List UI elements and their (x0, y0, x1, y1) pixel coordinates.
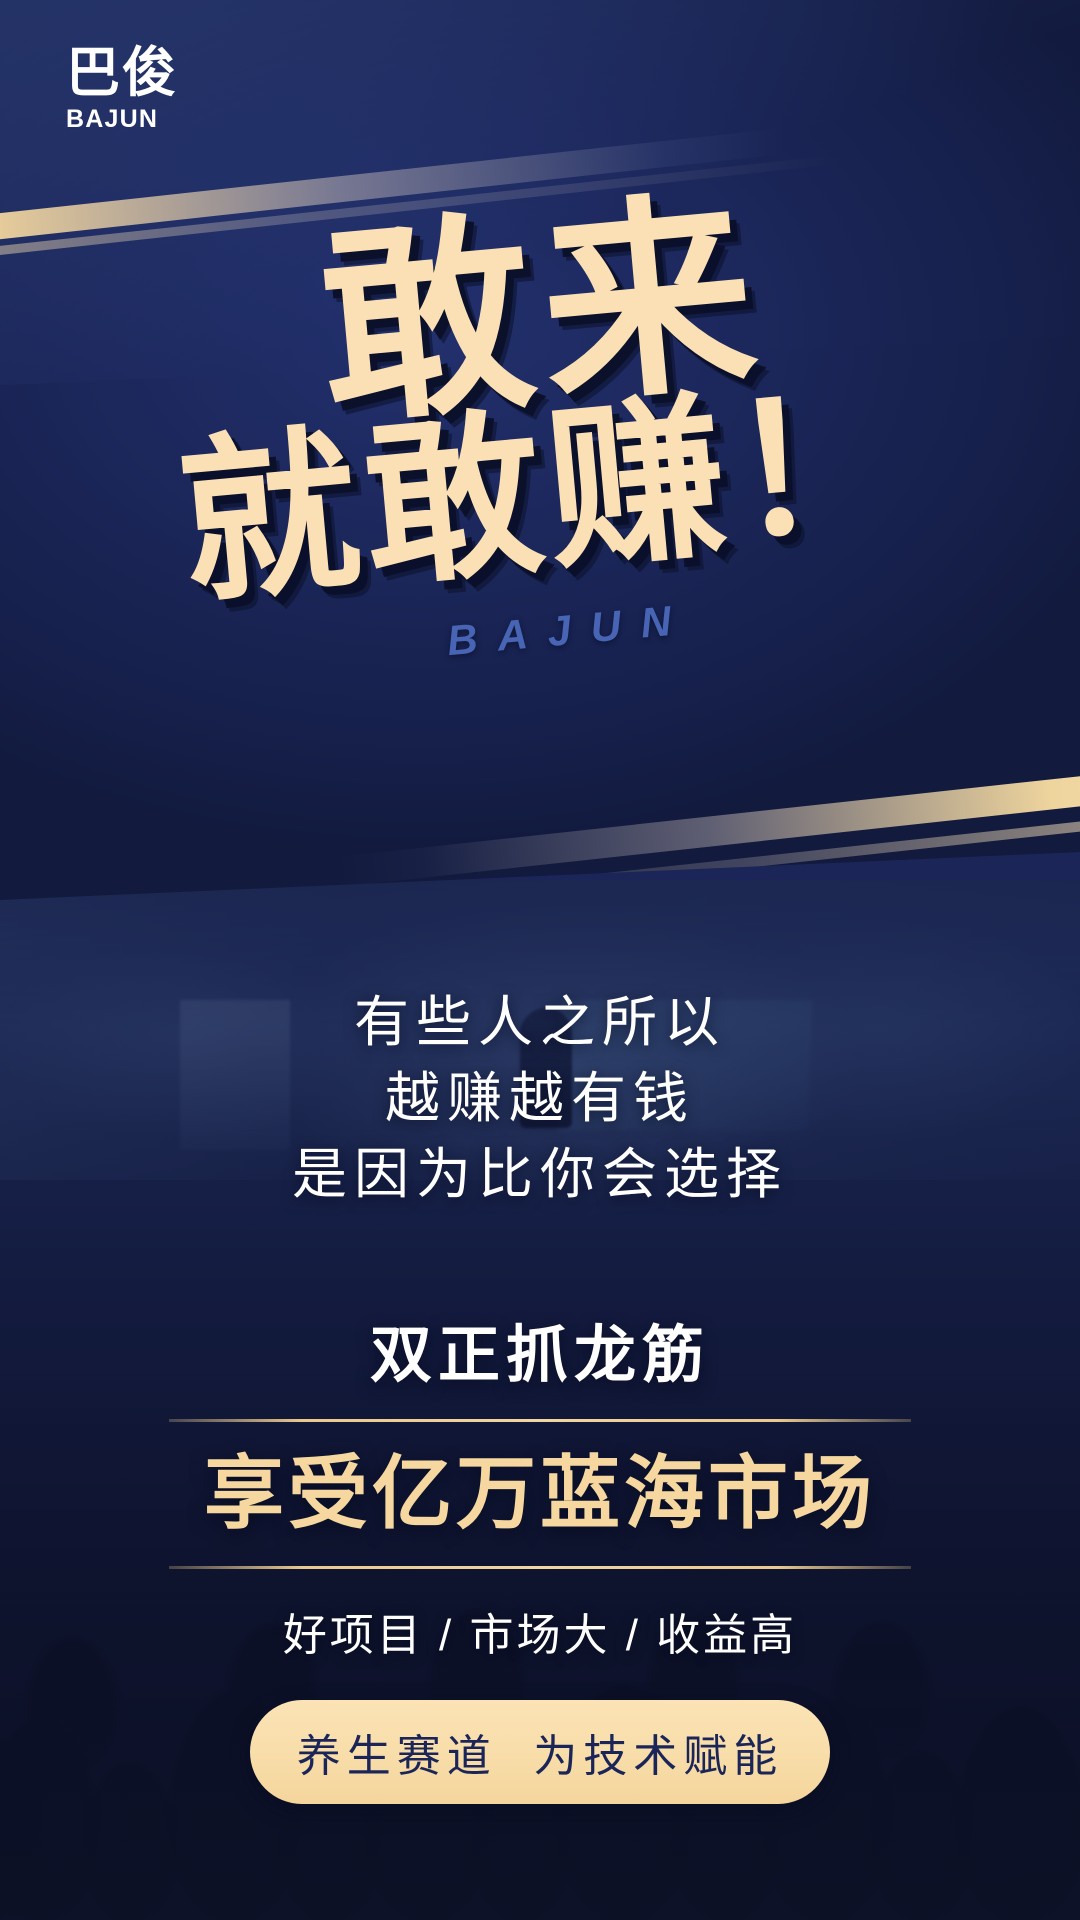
gold-divider-bottom (169, 1566, 911, 1569)
gold-divider-top (169, 1419, 911, 1422)
gold-market-headline: 享受亿万蓝海市场 (0, 1450, 1080, 1538)
bottom-pill-wrapper: 养生赛道 为技术赋能 (0, 1700, 1080, 1804)
brand-logo-en: BAJUN (66, 107, 178, 132)
middle-copy-line-2: 越赚越有钱 (0, 1061, 1080, 1137)
product-name-heading: 双正抓龙筋 (0, 1320, 1080, 1391)
slogan-pill-button[interactable]: 养生赛道 为技术赋能 (250, 1700, 830, 1804)
brand-logo-cn: 巴俊 (66, 46, 178, 100)
brand-logo: 巴俊 BAJUN (66, 46, 178, 132)
poster-root: 巴俊 BAJUN 敢来 就敢赚！ BAJUN 有些人之所以 越赚越有钱 是因为比… (0, 0, 1080, 1920)
benefits-tagline: 好项目 / 市场大 / 收益高 (0, 1599, 1080, 1663)
middle-copy-line-1: 有些人之所以 (0, 985, 1080, 1061)
middle-copy-line-3: 是因为比你会选择 (0, 1137, 1080, 1213)
lower-content-block: 双正抓龙筋 享受亿万蓝海市场 好项目 / 市场大 / 收益高 (0, 1320, 1080, 1663)
middle-copy-block: 有些人之所以 越赚越有钱 是因为比你会选择 (0, 985, 1080, 1213)
slogan-pill-label: 养生赛道 为技术赋能 (297, 1720, 783, 1784)
